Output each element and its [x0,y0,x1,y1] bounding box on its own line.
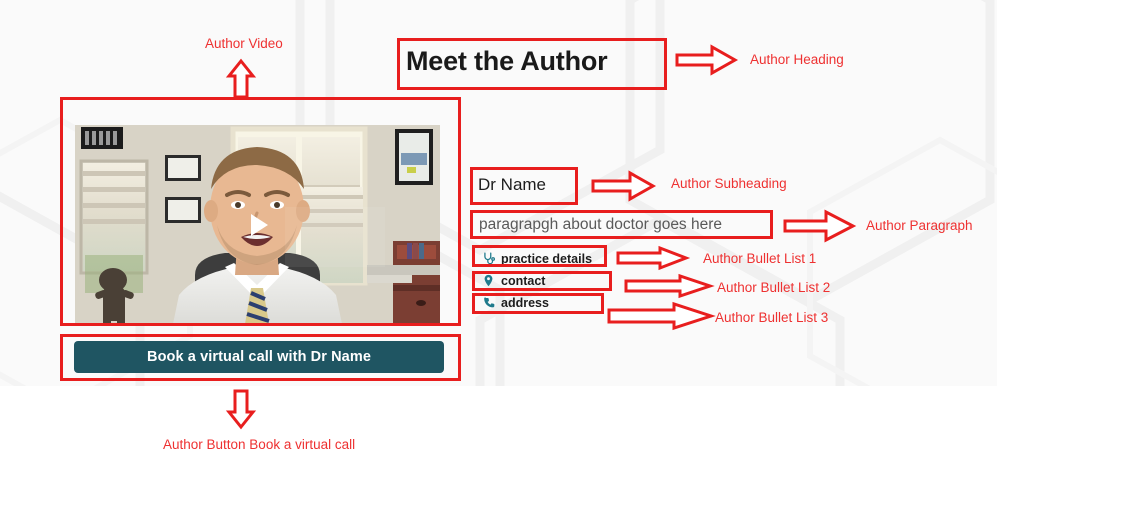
annotation-label-author-button: Author Button Book a virtual call [163,437,355,452]
screenshot-root: Book a virtual call with Dr Name Meet th… [0,0,1140,510]
author-bullet-item-1: practice details [481,248,592,269]
annotation-arrow-author-button [228,390,254,428]
play-icon[interactable] [230,206,286,244]
author-bullet-label-3: address [501,296,549,310]
annotation-label-author-subheading: Author Subheading [671,176,787,191]
map-pin-icon [481,273,496,288]
annotation-arrow-author-paragraph [784,211,854,241]
author-bullet-item-2: contact [481,270,592,291]
stethoscope-icon [481,251,496,266]
author-heading: Meet the Author [406,46,608,77]
author-bullet-list: practice details contact address [481,248,592,313]
annotation-arrow-author-heading [676,46,736,74]
phone-icon [481,295,496,310]
author-bullet-item-3: address [481,292,592,313]
annotation-label-author-bullet-3: Author Bullet List 3 [715,310,828,325]
annotation-arrow-author-subheading [592,172,654,200]
annotation-arrow-author-bullet-3 [608,303,712,329]
annotation-label-author-heading: Author Heading [750,52,844,67]
author-video[interactable] [75,125,440,324]
author-bullet-label-1: practice details [501,252,592,266]
annotation-label-author-bullet-2: Author Bullet List 2 [717,280,830,295]
annotation-arrow-author-bullet-1 [617,247,687,269]
author-subheading: Dr Name [478,175,546,195]
annotation-label-author-bullet-1: Author Bullet List 1 [703,251,816,266]
annotation-arrow-author-video [228,60,254,98]
author-paragraph: paragrapgh about doctor goes here [479,216,722,234]
annotation-arrow-author-bullet-2 [625,275,711,297]
page-content-panel: Book a virtual call with Dr Name Meet th… [0,0,997,386]
annotation-label-author-paragraph: Author Paragraph [866,218,973,233]
annotation-label-author-video: Author Video [205,36,283,51]
author-bullet-label-2: contact [501,274,545,288]
book-virtual-call-button[interactable]: Book a virtual call with Dr Name [74,341,444,373]
